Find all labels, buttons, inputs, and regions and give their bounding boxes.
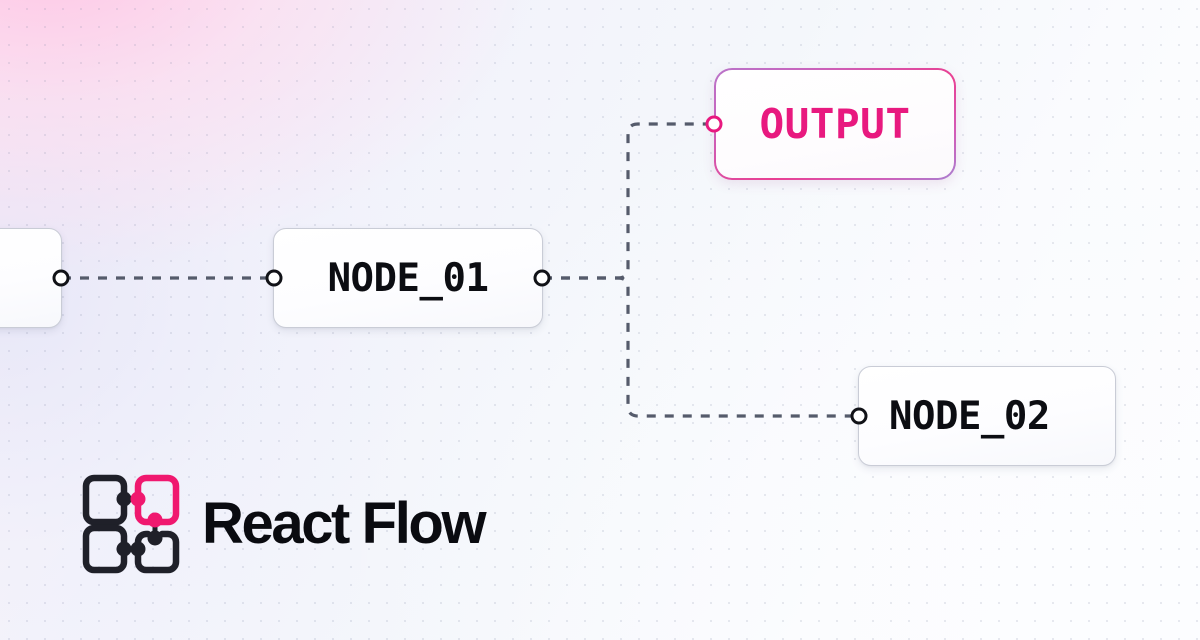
handle-target-node-02[interactable] [851, 408, 868, 425]
node-output-inner: OUTPUT [716, 70, 954, 178]
node-node-02[interactable]: NODE_02 [858, 366, 1116, 466]
node-01-label: NODE_01 [328, 259, 489, 298]
react-flow-wordmark: React Flow [202, 495, 484, 553]
react-flow-logo-mark-icon [76, 472, 180, 576]
react-flow-logo[interactable]: React Flow [76, 472, 484, 576]
node-02-label: NODE_02 [889, 397, 1050, 436]
node-partial[interactable] [0, 228, 62, 328]
handle-target-node-output[interactable] [706, 116, 723, 133]
node-output[interactable]: OUTPUT [714, 68, 956, 180]
node-output-label: OUTPUT [759, 104, 910, 145]
node-node-01[interactable]: NODE_01 [273, 228, 543, 328]
react-flow-canvas[interactable]: NODE_01 OUTPUT NODE_02 [0, 0, 1200, 640]
handle-source-partial[interactable] [53, 270, 70, 287]
handle-target-node-01[interactable] [266, 270, 283, 287]
handle-source-node-01[interactable] [534, 270, 551, 287]
